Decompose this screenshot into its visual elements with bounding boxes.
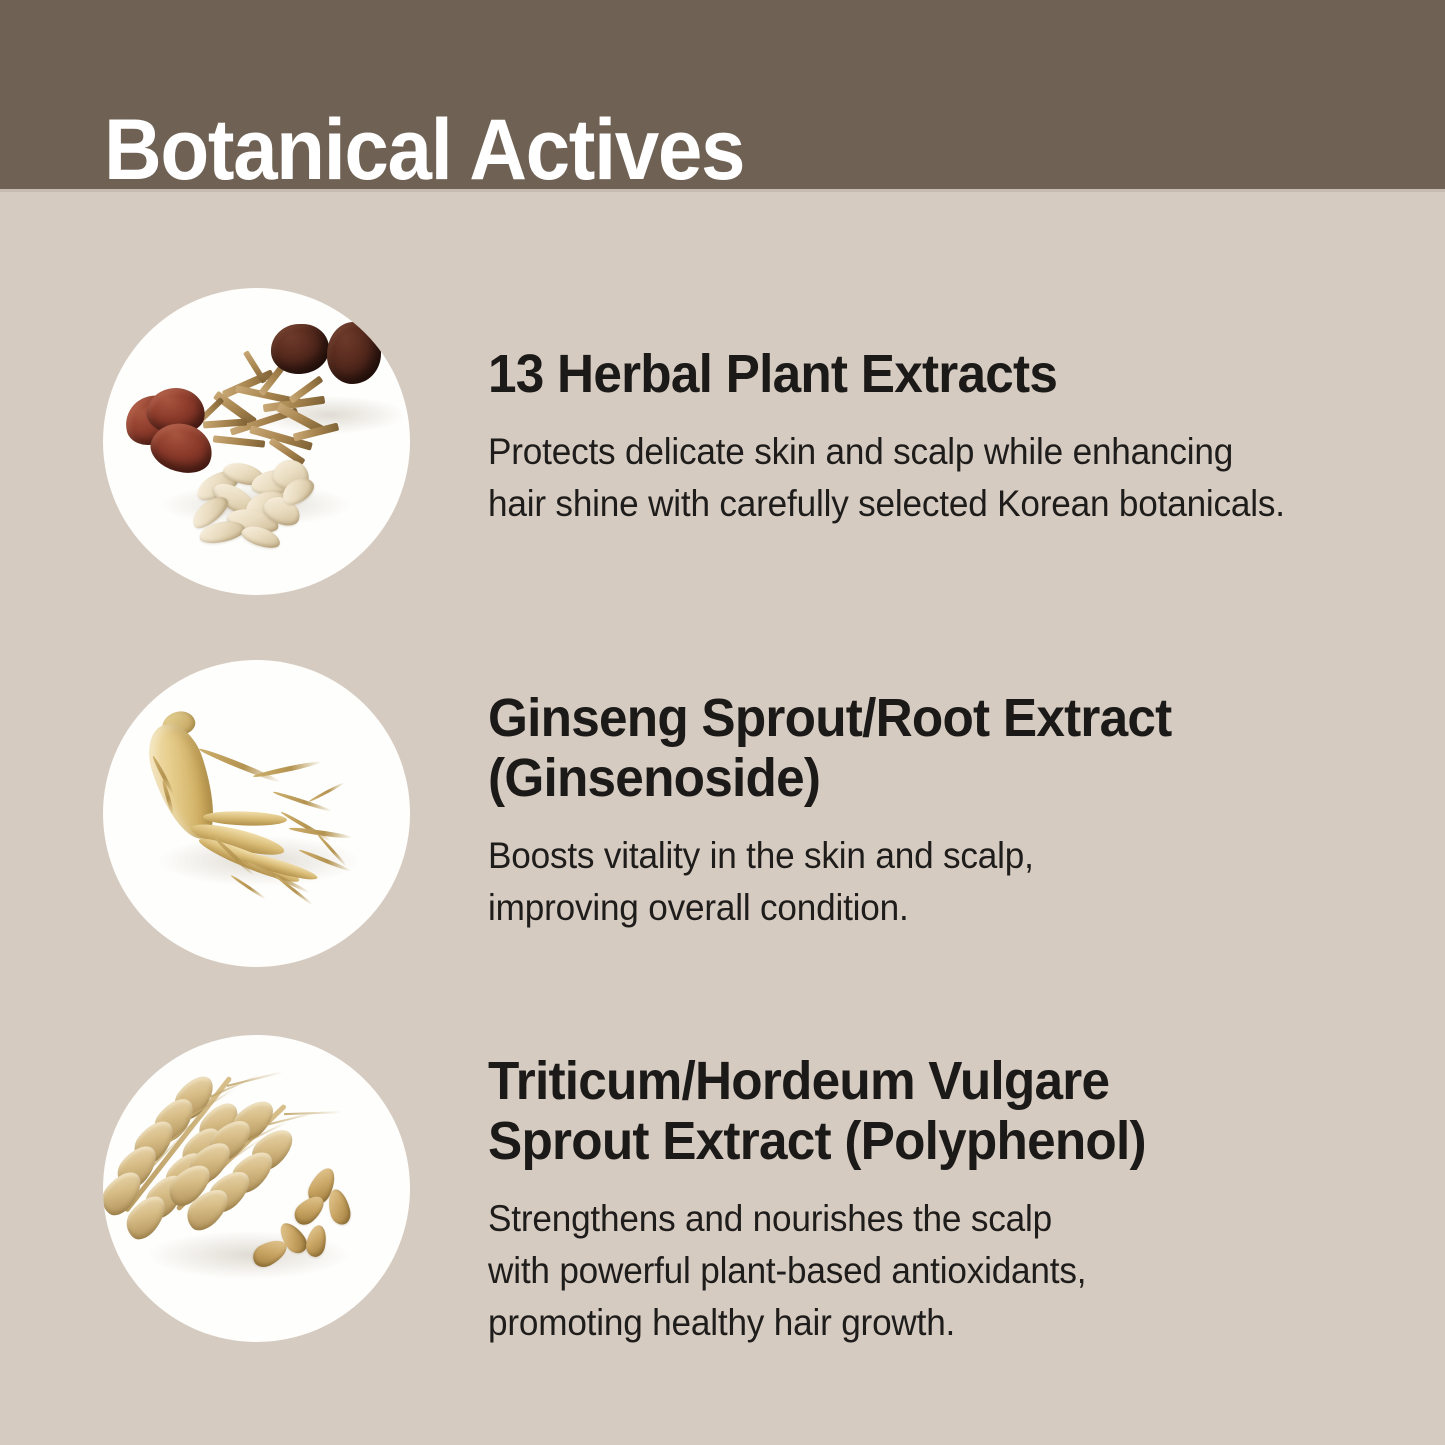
description-line: Strengthens and nourishes the scalp: [488, 1193, 1340, 1245]
ginseng-root-icon: [103, 660, 410, 967]
feature-body-ginseng-extract: Ginseng Sprout/Root Extract (Ginsenoside…: [410, 660, 1445, 934]
description-line: promoting healthy hair growth.: [488, 1297, 1340, 1349]
description-line: Boosts vitality in the skin and scalp,: [488, 830, 1340, 882]
feature-row-ginseng-extract: Ginseng Sprout/Root Extract (Ginsenoside…: [0, 660, 1445, 967]
heading-line: Sprout Extract (Polyphenol): [488, 1111, 1340, 1171]
description-line: with powerful plant-based antioxidants,: [488, 1245, 1340, 1297]
wheat-sprout-artwork: [103, 1035, 410, 1342]
description-line: improving overall condition.: [488, 882, 1340, 934]
dried-herbs-artwork: [103, 288, 410, 595]
wheat-sprout-icon: [103, 1035, 410, 1342]
ginseng-root-artwork: [103, 660, 410, 967]
heading-line: Triticum/Hordeum Vulgare: [488, 1051, 1340, 1111]
feature-description: Protects delicate skin and scalp while e…: [488, 426, 1340, 530]
header-underline-divider: [0, 189, 1445, 192]
feature-body-wheat-extract: Triticum/Hordeum Vulgare Sprout Extract …: [410, 1035, 1445, 1349]
feature-heading: Triticum/Hordeum Vulgare Sprout Extract …: [488, 1051, 1340, 1171]
feature-heading: Ginseng Sprout/Root Extract (Ginsenoside…: [488, 688, 1340, 808]
heading-line: (Ginsenoside): [488, 748, 1340, 808]
feature-row-herbal-extracts: 13 Herbal Plant Extracts Protects delica…: [0, 288, 1445, 595]
feature-description: Strengthens and nourishes the scalp with…: [488, 1193, 1340, 1349]
botanical-actives-infographic: Botanical Actives: [0, 0, 1445, 1445]
heading-line: Ginseng Sprout/Root Extract: [488, 688, 1340, 748]
feature-description: Boosts vitality in the skin and scalp, i…: [488, 830, 1340, 934]
feature-heading: 13 Herbal Plant Extracts: [488, 344, 1340, 404]
dried-herbs-icon: [103, 288, 410, 595]
description-line: Protects delicate skin and scalp while e…: [488, 426, 1340, 478]
header-bar: Botanical Actives: [0, 0, 1445, 189]
feature-row-wheat-extract: Triticum/Hordeum Vulgare Sprout Extract …: [0, 1035, 1445, 1349]
description-line: hair shine with carefully selected Korea…: [488, 478, 1340, 530]
feature-body-herbal-extracts: 13 Herbal Plant Extracts Protects delica…: [410, 288, 1445, 530]
page-title: Botanical Actives: [104, 107, 744, 193]
